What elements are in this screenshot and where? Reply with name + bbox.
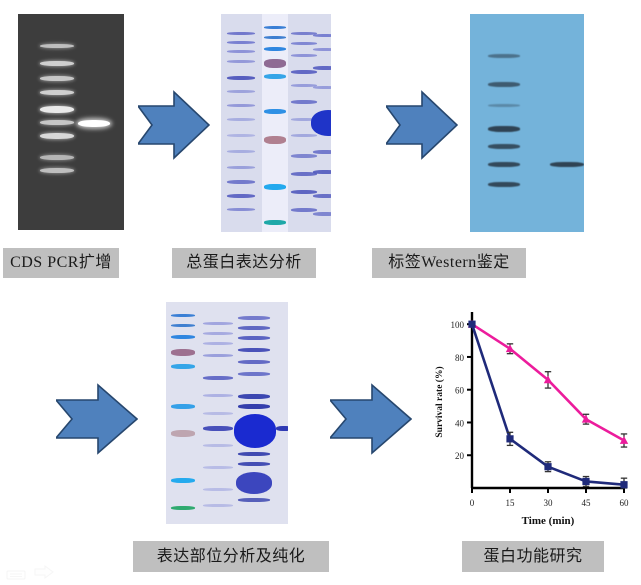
svg-text:15: 15 [506, 498, 516, 508]
svg-text:0: 0 [470, 498, 475, 508]
svg-text:80: 80 [455, 353, 465, 363]
svg-text:Survival rate (%): Survival rate (%) [434, 366, 445, 437]
arrow-step3-to-step4 [56, 382, 138, 456]
share-arrow-icon [34, 565, 54, 579]
arrow-step2-to-step3 [386, 90, 458, 160]
svg-text:100: 100 [451, 320, 465, 330]
svg-text:40: 40 [455, 418, 465, 428]
svg-text:20: 20 [455, 451, 465, 461]
svg-text:60: 60 [455, 386, 465, 396]
step-label-cds-pcr: CDS PCR扩增 [3, 248, 119, 278]
svg-text:45: 45 [582, 498, 592, 508]
workflow-diagram: CDS PCR扩增 总蛋白表达分析 标签Western鉴定 [0, 0, 641, 583]
figure-sds-page-total-protein [221, 14, 331, 232]
figure-western-blot [470, 14, 584, 232]
arrow-step4-to-step5 [330, 382, 412, 456]
document-icon [6, 567, 26, 577]
step-label-protein-function: 蛋白功能研究 [462, 541, 604, 572]
figure-dna-agarose-gel [18, 14, 124, 230]
svg-text:30: 30 [544, 498, 554, 508]
arrow-step1-to-step2 [138, 90, 210, 160]
step-label-expression-purification: 表达部位分析及纯化 [133, 541, 329, 572]
svg-text:60: 60 [620, 498, 630, 508]
figure-sds-page-purification [166, 302, 288, 524]
survival-chart-svg: 20406080100015304560Time (min)Survival r… [428, 302, 633, 530]
step-label-western: 标签Western鉴定 [372, 248, 526, 278]
svg-text:Time (min): Time (min) [522, 515, 575, 527]
step-label-total-protein: 总蛋白表达分析 [172, 248, 316, 278]
figure-survival-curve-chart: 20406080100015304560Time (min)Survival r… [428, 302, 633, 530]
